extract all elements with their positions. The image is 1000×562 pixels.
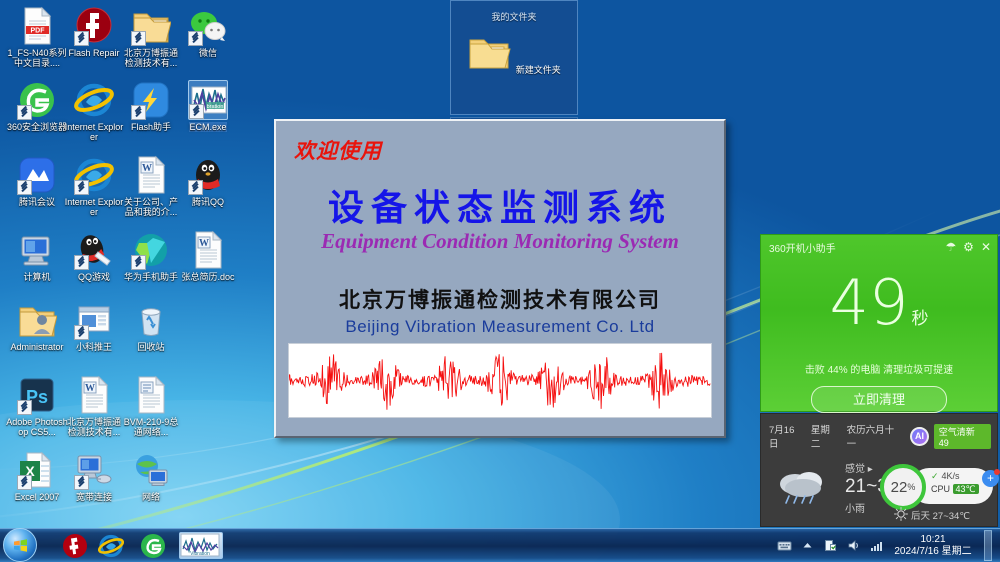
cpu-usage-ring[interactable]: 22% [880,464,926,510]
start-button[interactable] [3,528,37,562]
recycle-bin-icon [131,300,171,340]
word-doc-icon: W [74,375,114,415]
weather-widget[interactable]: 7月16日 星期二 农历六月十一 AI 空气清新 49 感觉 ▸ 21~31 小… [760,413,998,527]
desktop-icon-label: 关于公司、产品和我的介... [120,197,182,217]
shortcut-overlay-icon [74,475,89,490]
text-doc-icon [131,375,171,415]
svg-text:Vibration: Vibration [190,551,210,557]
desktop-icon-23[interactable]: XExcel 2007 [6,450,68,502]
pdf-file-icon: PDF [17,6,57,46]
network-icon [131,450,171,490]
taskbar[interactable]: Vibration 10:21 2024/7/16 星期二 [0,528,1000,562]
shortcut-overlay-icon [17,180,32,195]
flash-helper-icon [131,80,171,120]
flash-repair-icon [74,6,114,46]
cpu-usage-value: 22 [891,479,908,496]
rain-cloud-icon [773,464,835,508]
windows-logo-icon [13,538,28,553]
add-icon[interactable]: + [982,470,999,487]
browser-360-icon [17,80,57,120]
vibration-waveform-panel [288,343,712,418]
text-doc-icon [131,375,171,415]
desktop-icon-label: 回收站 [137,342,164,352]
desktop-icon-label: 华为手机助手 [124,272,178,282]
desktop-icon-17[interactable]: Administrator [6,300,68,352]
shortcut-overlay-icon [74,325,89,340]
desktop-icon-5[interactable]: 360安全浏览器 [6,80,68,132]
folder-preview-panel[interactable]: 我的文件夹 新建文件夹 [450,0,578,115]
ecm-app-icon: bration [188,80,228,120]
check-icon: ✓ [931,471,939,481]
cpu-temp-row: CPU 43℃ [931,484,993,495]
desktop-icon-label: 北京万博振通检测技术有... [120,48,182,68]
splash-company-chinese: 北京万博振通检测技术有限公司 [276,284,724,314]
desktop-icon-9[interactable]: 腾讯会议 [6,155,68,207]
excel-icon: X [17,450,57,490]
folder-colored-icon [467,33,511,73]
desktop-icon-label: 1_FS-N40系列中文目录.... [6,48,68,68]
clean-now-button[interactable]: 立即清理 [811,386,947,413]
shortcut-overlay-icon [131,31,146,46]
tencent-meeting-icon [17,155,57,195]
desktop-icon-label: Adobe Photoshop CS5... [6,417,68,437]
ie-icon [74,80,114,120]
desktop-icon-label: 小科推王 [76,342,112,352]
svg-text:bration: bration [207,104,224,110]
desktop-icon-8[interactable]: brationECM.exe [177,80,239,132]
boot-time-subtitle: 击败 44% 的电脑 清理垃圾可提速 [761,361,997,376]
widget-360-title: 360开机小助手 [769,240,938,255]
shortcut-overlay-icon [189,104,204,119]
splash-title-chinese: 设备状态监测系统 [276,179,724,231]
trash-icon[interactable]: ☂ [945,241,956,253]
user-folder-icon [17,300,57,340]
shortcut-overlay-icon [17,105,32,120]
clock-date: 2024/7/16 星期二 [892,546,974,558]
computer-icon [17,230,57,270]
svg-text:PDF: PDF [31,28,46,35]
splash-company-english: Beijing Vibration Measurement Co. Ltd [276,317,724,337]
word-doc-icon: W [74,375,114,415]
desktop-icon-3[interactable]: 北京万博振通检测技术有... [120,6,182,68]
desktop-icon-label: 计算机 [23,272,50,282]
show-desktop-button[interactable] [984,530,992,561]
desktop-icon-20[interactable]: PsAdobe Photoshop CS5... [6,375,68,437]
360-boot-assistant-widget[interactable]: 360开机小助手 ☂ ⚙ ✕ 49秒 击败 44% 的电脑 清理垃圾可提速 立即… [760,234,998,412]
desktop-icon-13[interactable]: 计算机 [6,230,68,282]
desktop-icon-16[interactable]: W张总简历.doc [177,230,239,282]
desktop-icon-label: ECM.exe [189,122,226,132]
desktop-icon-1[interactable]: PDF1_FS-N40系列中文目录.... [6,6,68,68]
qq-icon [188,155,228,195]
cpu-temp-value: 43℃ [953,484,979,494]
desktop-icon-25[interactable]: 网络 [120,450,182,502]
ie-icon [74,155,114,195]
shortcut-overlay-icon [131,255,146,270]
volume-icon[interactable] [846,538,861,553]
desktop-icon-label: 网络 [142,492,160,502]
desktop-icon-14[interactable]: QQ游戏 [63,230,125,282]
shortcut-overlay-icon [74,255,89,270]
keyboard-ime-icon[interactable] [777,538,792,553]
desktop-icon-10[interactable]: Internet Explorer [63,155,125,217]
desktop-icon-label: Administrator [10,342,63,352]
weather-forecast: 后天 27~34℃ [911,508,970,522]
qq-game-icon [74,230,114,270]
air-quality-badge: 空气清新 49 [934,424,991,449]
desktop-icon-label: BVM-210-9总通网络... [120,417,182,437]
recycle-bin-icon [131,300,171,340]
ai-badge-icon[interactable]: AI [910,427,929,446]
desktop-icon-15[interactable]: 华为手机助手 [120,230,182,282]
shortcut-overlay-icon [188,31,203,46]
close-icon[interactable]: ✕ [981,241,991,253]
splash-title-english: Equipment Condition Monitoring System [276,229,724,254]
show-hidden-icons-icon[interactable] [800,538,815,553]
network-icon [131,450,171,490]
action-center-icon[interactable] [823,538,838,553]
quicklaunch-360-browser-icon[interactable] [140,533,166,559]
word-doc-icon: W [188,230,228,270]
weather-lunar-date: 农历六月十一 [847,422,903,450]
broadband-icon [74,450,114,490]
desktop-icon-7[interactable]: Flash助手 [120,80,182,132]
svg-text:W: W [142,163,152,174]
desktop-icon-label: Internet Explorer [63,122,125,142]
shortcut-overlay-icon [188,180,203,195]
window-app-icon [74,300,114,340]
desktop-icon-label: Internet Explorer [63,197,125,217]
user-folder-icon [17,300,57,340]
sun-icon [894,507,908,521]
desktop-icon-label: 微信 [199,48,217,58]
desktop-icon-label: 腾讯会议 [19,197,55,207]
weather-weekday: 星期二 [811,422,839,450]
desktop-icon-12[interactable]: 腾讯QQ [177,155,239,207]
splash-window[interactable]: 欢迎使用 设备状态监测系统 Equipment Condition Monito… [274,119,726,438]
splash-welcome-text: 欢迎使用 [294,135,382,165]
desktop-icon-2[interactable]: Flash Repair [63,6,125,58]
desktop-icon-11[interactable]: W关于公司、产品和我的介... [120,155,182,217]
shortcut-overlay-icon [74,31,89,46]
waveform-plot [289,344,711,417]
gear-icon[interactable]: ⚙ [963,241,974,253]
net-speed-value: 4K/s [942,471,960,481]
clock-time: 10:21 [892,534,974,546]
desktop-icon-label: Excel 2007 [15,492,60,502]
quicklaunch-flash-icon[interactable] [62,533,88,559]
shortcut-overlay-icon [17,475,32,490]
desktop-icon-label: 张总简历.doc [181,272,234,282]
pdf-file-icon: PDF [17,6,57,46]
desktop-icon-label: 腾讯QQ [192,197,224,207]
desktop-icon-24[interactable]: 宽带连接 [63,450,125,502]
desktop-icon-6[interactable]: Internet Explorer [63,80,125,142]
desktop-icon-4[interactable]: 微信 [177,6,239,58]
desktop-icon-label: 北京万博振通检测技术有... [63,417,125,437]
network-signal-icon[interactable] [869,538,884,553]
shortcut-overlay-icon [74,180,89,195]
svg-text:W: W [85,383,95,394]
folder-panel-title: 我的文件夹 [451,1,577,23]
desktop-icon-label: Flash助手 [131,122,171,132]
computer-icon [17,230,57,270]
desktop-icon-21[interactable]: W北京万博振通检测技术有... [63,375,125,437]
quicklaunch-ie-icon[interactable] [98,533,124,559]
word-doc-icon: W [188,230,228,270]
word-doc-icon: W [131,155,171,195]
desktop-icon-label: 宽带连接 [76,492,112,502]
folder-panel-item-label: 新建文件夹 [516,63,561,76]
desktop-icon-label: Flash Repair [68,48,119,58]
weather-date: 7月16日 [769,422,803,450]
ie-icon [74,80,114,120]
photoshop-icon: Ps [17,375,57,415]
system-tray[interactable]: 10:21 2024/7/16 星期二 [777,529,996,562]
desktop-icon-22[interactable]: BVM-210-9总通网络... [120,375,182,437]
wechat-icon [188,6,228,46]
huawei-hisuite-icon [131,230,171,270]
ecm-app-icon: Vibration [180,533,220,557]
desktop-icon-label: QQ游戏 [78,272,110,282]
shortcut-overlay-icon [17,400,32,415]
word-doc-icon: W [131,155,171,195]
desktop-icon-18[interactable]: 小科推王 [63,300,125,352]
boot-time-value: 49秒 [761,271,997,351]
svg-text:W: W [199,238,209,249]
taskbar-clock[interactable]: 10:21 2024/7/16 星期二 [892,534,974,558]
taskbar-button-ecm[interactable]: Vibration [179,532,223,559]
shortcut-overlay-icon [131,105,146,120]
folder-icon [131,6,171,46]
desktop-icon-label: 360安全浏览器 [7,122,67,132]
folder-panel-item[interactable]: 新建文件夹 [451,33,577,78]
desktop-icon-19[interactable]: 回收站 [120,300,182,352]
